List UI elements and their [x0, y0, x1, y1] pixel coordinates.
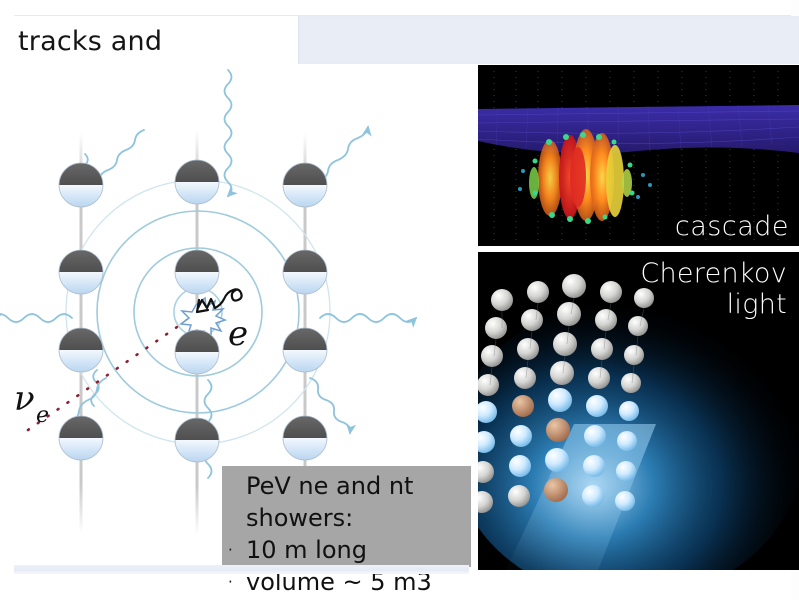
callout-line: PeV ne and nt	[228, 470, 528, 502]
dom-module	[283, 250, 327, 294]
ice-surface-mesh	[478, 105, 799, 153]
electron-label: e	[228, 314, 248, 354]
callout-line-text: PeV ne and nt	[246, 472, 413, 500]
callout-bullet: ·	[228, 534, 246, 566]
dom-module	[283, 416, 327, 460]
title-band	[298, 16, 799, 64]
dom-module	[283, 163, 327, 207]
dom-module	[175, 330, 219, 374]
cascade-caption: cascade	[675, 211, 789, 242]
callout-line: ·10 m long	[228, 534, 528, 566]
dom-module	[59, 250, 103, 294]
callout-line-text: 10 m long	[246, 536, 367, 564]
slide-frame-top	[0, 0, 799, 16]
neutrino-track	[28, 318, 190, 430]
cherenkov-caption: Cherenkov light	[640, 258, 787, 320]
dom-module	[59, 328, 103, 372]
photon-wave-ne	[318, 127, 368, 182]
slide-canvas: tracks and	[0, 0, 799, 600]
title-band-inner	[301, 18, 798, 62]
dom-module	[175, 418, 219, 462]
dom-module	[59, 163, 103, 207]
neutrino-label-subscript: e	[36, 403, 49, 428]
neutrino-label: ν	[14, 379, 35, 419]
dom-module	[175, 250, 219, 294]
callout-line-text: showers:	[246, 504, 353, 532]
cherenkov-caption-line2: light	[640, 289, 787, 320]
page-title: tracks and	[18, 20, 308, 64]
dom-module	[59, 416, 103, 460]
dom-module	[283, 328, 327, 372]
callout-line: showers:	[228, 502, 528, 534]
cascade-event-display: cascade	[478, 65, 799, 246]
dom-module	[175, 160, 219, 204]
callout-text: PeV ne and nt showers: ·10 m long	[228, 470, 528, 566]
cherenkov-caption-line1: Cherenkov	[640, 258, 787, 289]
footer-band	[14, 565, 469, 574]
photon-wave-up	[225, 70, 232, 196]
photon-wave-west	[0, 314, 72, 322]
photon-wave-east	[320, 314, 416, 322]
